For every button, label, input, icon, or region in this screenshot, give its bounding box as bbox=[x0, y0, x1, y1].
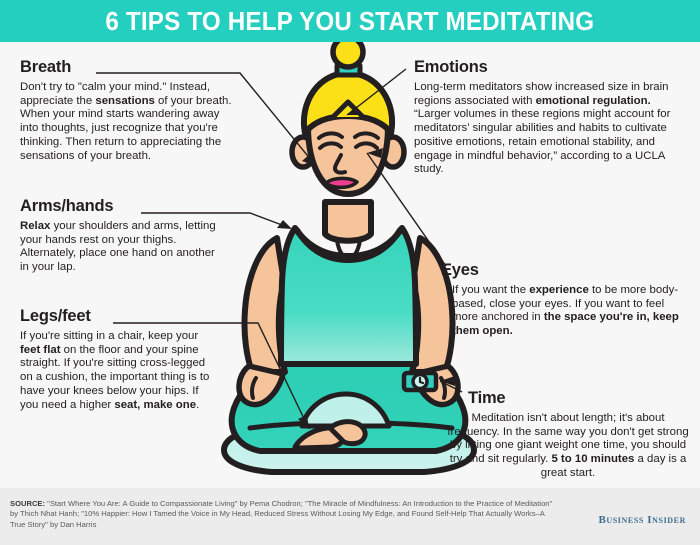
tip-legs-feet-body: If you're sitting in a chair, keep your … bbox=[20, 330, 216, 412]
tip-emotions: Emotions Long-term meditators show incre… bbox=[414, 58, 682, 177]
tip-breath-body: Don't try to "calm your mind." Instead, … bbox=[20, 81, 235, 163]
tip-eyes-body: If you want the experience to be more bo… bbox=[441, 284, 685, 339]
tip-emotions-body: Long-term meditators show increased size… bbox=[414, 81, 682, 177]
header-banner: 6 TIPS TO HELP YOU START MEDITATING bbox=[0, 0, 700, 42]
tip-eyes-heading: Eyes bbox=[441, 261, 678, 279]
tip-legs-feet-heading: Legs/feet bbox=[20, 307, 210, 325]
source-text: "Start Where You Are: A Guide to Compass… bbox=[10, 499, 552, 529]
tank-top bbox=[281, 228, 416, 364]
source-label: SOURCE: bbox=[10, 499, 45, 508]
business-insider-logo: Business Insider bbox=[598, 514, 686, 526]
tip-legs-feet: Legs/feet If you're sitting in a chair, … bbox=[20, 307, 216, 412]
neck bbox=[325, 202, 371, 241]
tip-breath-heading: Breath bbox=[20, 58, 229, 76]
tip-arms-hands: Arms/hands Relax your shoulders and arms… bbox=[20, 197, 220, 275]
page-title: 6 TIPS TO HELP YOU START MEDITATING bbox=[106, 6, 595, 37]
tip-eyes: Eyes If you want the experience to be mo… bbox=[441, 261, 685, 339]
hair-bun bbox=[333, 42, 363, 67]
tip-time-body: Meditation isn't about length; it's abou… bbox=[444, 412, 692, 481]
lips bbox=[326, 178, 357, 187]
footer-bar: SOURCE: "Start Where You Are: A Guide to… bbox=[0, 488, 700, 545]
tip-emotions-heading: Emotions bbox=[414, 58, 674, 76]
tip-breath: Breath Don't try to "calm your mind." In… bbox=[20, 58, 235, 163]
tip-time: Time Meditation isn't about length; it's… bbox=[444, 389, 692, 481]
tip-arms-hands-heading: Arms/hands bbox=[20, 197, 214, 215]
source-note: SOURCE: "Start Where You Are: A Guide to… bbox=[10, 499, 555, 530]
tip-time-heading: Time bbox=[468, 389, 685, 407]
tip-arms-hands-body: Relax your shoulders and arms, letting y… bbox=[20, 220, 220, 275]
infographic-body: Breath Don't try to "calm your mind." In… bbox=[0, 42, 700, 488]
infographic-page: 6 TIPS TO HELP YOU START MEDITATING bbox=[0, 0, 700, 545]
